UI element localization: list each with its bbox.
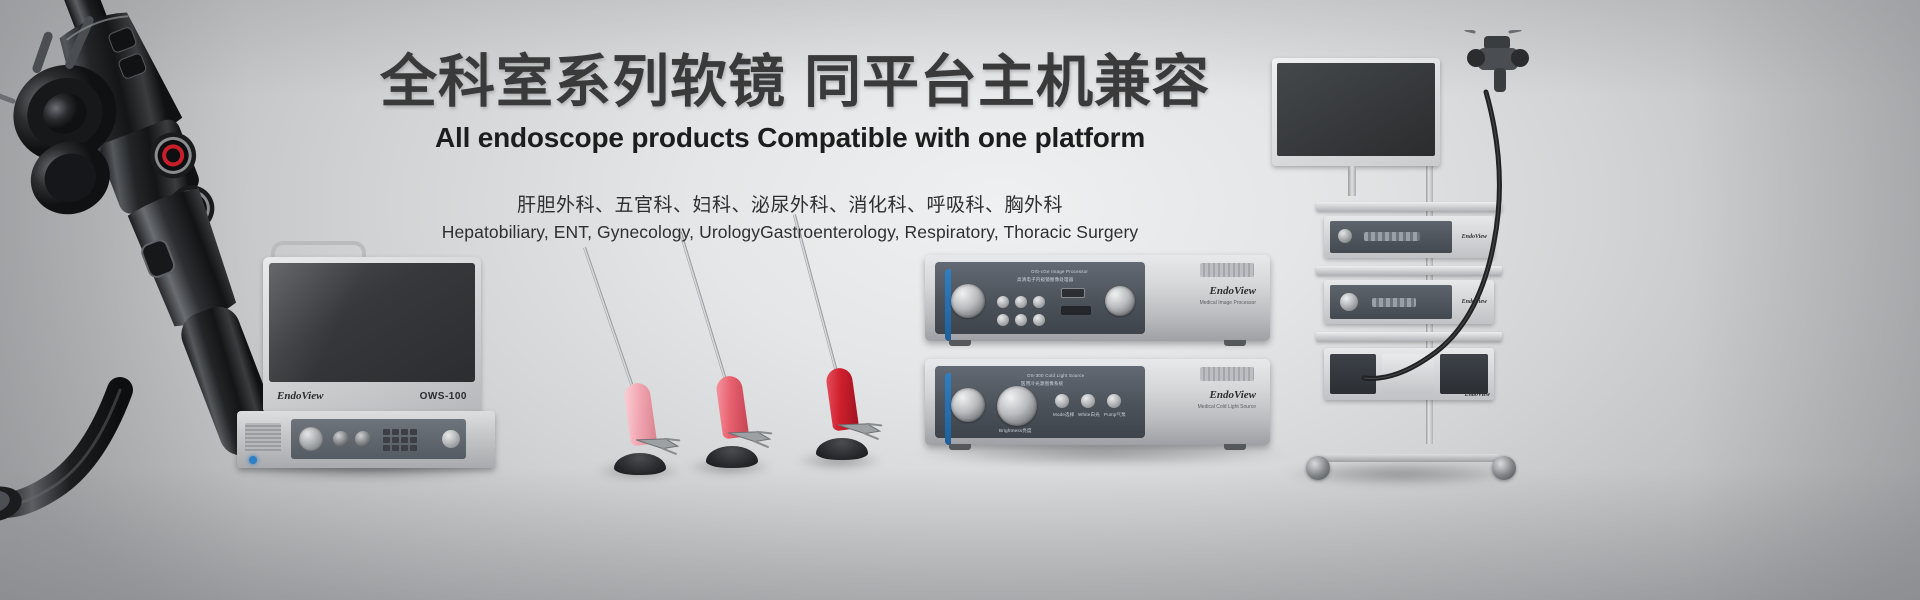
processor-vent-grille	[1200, 263, 1254, 277]
banner-text-block: 全科室系列软镜同平台主机兼容 All endoscope products Co…	[380, 52, 1200, 243]
instrument-stand-base	[614, 453, 666, 475]
monitor-brandbar: EndoView OWS-100	[269, 385, 475, 407]
workstation-control-panel	[291, 419, 466, 459]
light-source-title-cn: 医用冷光源图像系统	[1021, 381, 1063, 387]
light-source-title-en: OS-300 Cold Light Source	[1027, 373, 1084, 378]
video-port-b[interactable]	[355, 431, 371, 447]
monitor-workstation: EndoView OWS-100	[237, 243, 495, 468]
accent-stripe	[945, 373, 951, 445]
light-source-brightness-dial[interactable]	[997, 386, 1037, 426]
power-indicator-led	[249, 456, 257, 464]
processor-usb-port[interactable]	[1061, 288, 1085, 298]
workstation-brand-label: EndoView	[277, 390, 323, 402]
instrument-stand-base	[816, 438, 868, 460]
white-balance-button[interactable]	[1081, 394, 1095, 408]
processor-button-2[interactable]	[1015, 296, 1027, 308]
image-processor-unit: Orb-cGe Image Processor 高清电子内窥镜图像处理器 End…	[925, 255, 1270, 341]
mode-button-label: Mode选择	[1053, 412, 1074, 418]
headline-part-2: 同平台主机兼容	[804, 50, 1210, 114]
departments-english: Hepatobiliary, ENT, Gynecology, UrologyG…	[380, 222, 1200, 243]
hanging-endoscope	[1440, 30, 1526, 82]
workstation-model-label: OWS-100	[420, 391, 467, 402]
processor-button-6[interactable]	[1033, 314, 1045, 326]
power-knob[interactable]	[299, 427, 323, 451]
processor-brand-label: EndoView	[1210, 285, 1256, 297]
workstation-base	[237, 411, 495, 468]
endoscopy-trolley-cart: EndoView EndoView EndoView	[1290, 30, 1590, 480]
processor-button-1[interactable]	[997, 296, 1009, 308]
processor-title-en: Orb-cGe Image Processor	[1031, 269, 1088, 274]
light-source-front-panel: OS-300 Cold Light Source 医用冷光源图像系统 Brigh…	[935, 366, 1145, 438]
processor-foot-right	[1224, 340, 1246, 346]
rigid-instrument-rose	[682, 248, 782, 468]
monitor-screen	[269, 263, 475, 382]
mode-button[interactable]	[1055, 394, 1069, 408]
processor-foot-left	[949, 340, 971, 346]
processor-sub-label: Medical Image Processor	[1200, 300, 1256, 306]
keypad[interactable]	[383, 429, 417, 451]
light-source-foot-right	[1224, 444, 1246, 450]
banner-subheadline: All endoscope products Compatible with o…	[380, 122, 1200, 154]
processor-right-dial[interactable]	[1105, 286, 1135, 316]
white-button-label: White白光	[1078, 412, 1100, 418]
left-vent-grille	[245, 423, 281, 453]
monitor-housing: EndoView OWS-100	[263, 257, 481, 412]
departments-chinese: 肝胆外科、五官科、妇科、泌尿外科、消化科、呼吸科、胸外科	[380, 190, 1200, 217]
pump-button-label: Pump气泵	[1104, 412, 1126, 418]
instrument-stand-base	[706, 446, 758, 468]
video-port-a[interactable]	[333, 431, 349, 447]
brightness-label: Brightness亮度	[999, 428, 1032, 434]
cold-light-source-unit: OS-300 Cold Light Source 医用冷光源图像系统 Brigh…	[925, 359, 1270, 445]
light-source-power-knob[interactable]	[951, 388, 985, 422]
light-source-sub-label: Medical Cold Light Source	[1198, 404, 1256, 410]
light-source-brand-label: EndoView	[1210, 389, 1256, 401]
light-source-vent-grille	[1200, 367, 1254, 381]
rigid-instrument-pink	[590, 255, 690, 475]
product-banner: EndoView OWS-100	[0, 0, 1920, 600]
rigid-instrument-red	[792, 240, 892, 460]
processor-main-knob[interactable]	[951, 284, 985, 318]
processor-stack: Orb-cGe Image Processor 高清电子内窥镜图像处理器 End…	[925, 255, 1270, 450]
menu-dial[interactable]	[442, 430, 460, 448]
accent-stripe	[945, 269, 951, 341]
headline-part-1: 全科室系列软镜	[380, 50, 786, 114]
processor-front-panel: Orb-cGe Image Processor 高清电子内窥镜图像处理器	[935, 262, 1145, 334]
processor-button-4[interactable]	[997, 314, 1009, 326]
pump-button[interactable]	[1107, 394, 1121, 408]
processor-button-5[interactable]	[1015, 314, 1027, 326]
processor-title-cn: 高清电子内窥镜图像处理器	[1017, 277, 1073, 283]
light-source-foot-left	[949, 444, 971, 450]
processor-button-3[interactable]	[1033, 296, 1045, 308]
processor-card-slot[interactable]	[1061, 306, 1091, 315]
banner-headline: 全科室系列软镜同平台主机兼容	[380, 52, 1200, 114]
